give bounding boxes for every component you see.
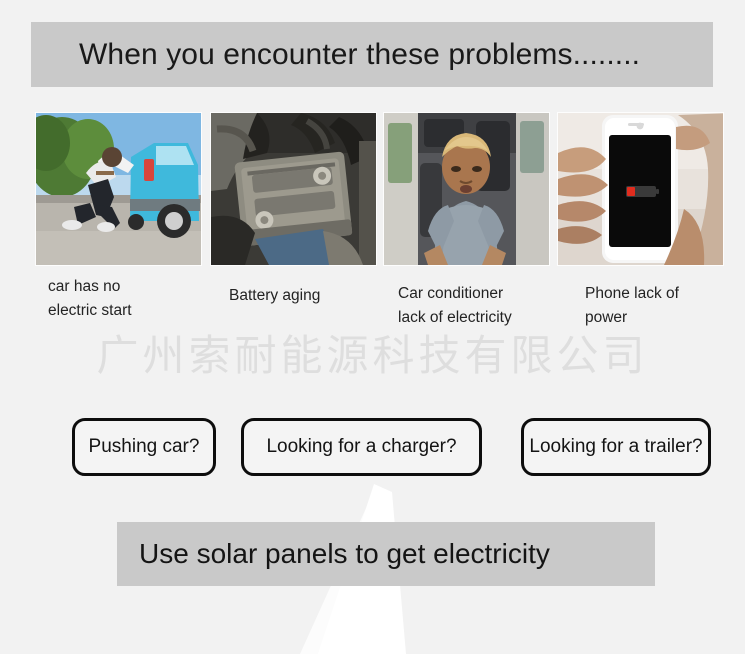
question-button-looking-for-charger[interactable]: Looking for a charger? bbox=[241, 418, 482, 476]
question-buttons-row: Pushing car? Looking for a charger? Look… bbox=[0, 418, 745, 480]
hand-holding-phone-low-battery-photo bbox=[558, 113, 723, 265]
problem-card: Battery aging bbox=[211, 113, 376, 308]
question-button-pushing-car[interactable]: Pushing car? bbox=[72, 418, 216, 476]
company-watermark: 广州索耐能源科技有限公司 bbox=[0, 322, 745, 383]
problem-caption: car has no electric start bbox=[48, 275, 201, 323]
man-pushing-broken-car-photo bbox=[36, 113, 201, 265]
question-button-label: Pushing car? bbox=[89, 436, 200, 458]
problem-card: car has no electric start bbox=[36, 113, 201, 323]
problem-card: Phone lack of power bbox=[558, 113, 723, 330]
old-car-battery-engine-bay-photo bbox=[211, 113, 376, 265]
question-button-looking-for-trailer[interactable]: Looking for a trailer? bbox=[521, 418, 711, 476]
question-button-label: Looking for a trailer? bbox=[529, 436, 702, 458]
problem-caption: Battery aging bbox=[229, 284, 376, 308]
problem-card: Car conditioner lack of electricity bbox=[384, 113, 549, 330]
footer-banner: Use solar panels to get electricity bbox=[117, 522, 655, 586]
problem-cards-row: car has no electric start bbox=[0, 113, 745, 343]
solution-statement: Use solar panels to get electricity bbox=[139, 538, 550, 570]
man-sweating-inside-hot-car-photo bbox=[384, 113, 549, 265]
page-title: When you encounter these problems.......… bbox=[79, 38, 640, 72]
header-banner: When you encounter these problems.......… bbox=[31, 22, 713, 87]
question-button-label: Looking for a charger? bbox=[266, 436, 456, 458]
